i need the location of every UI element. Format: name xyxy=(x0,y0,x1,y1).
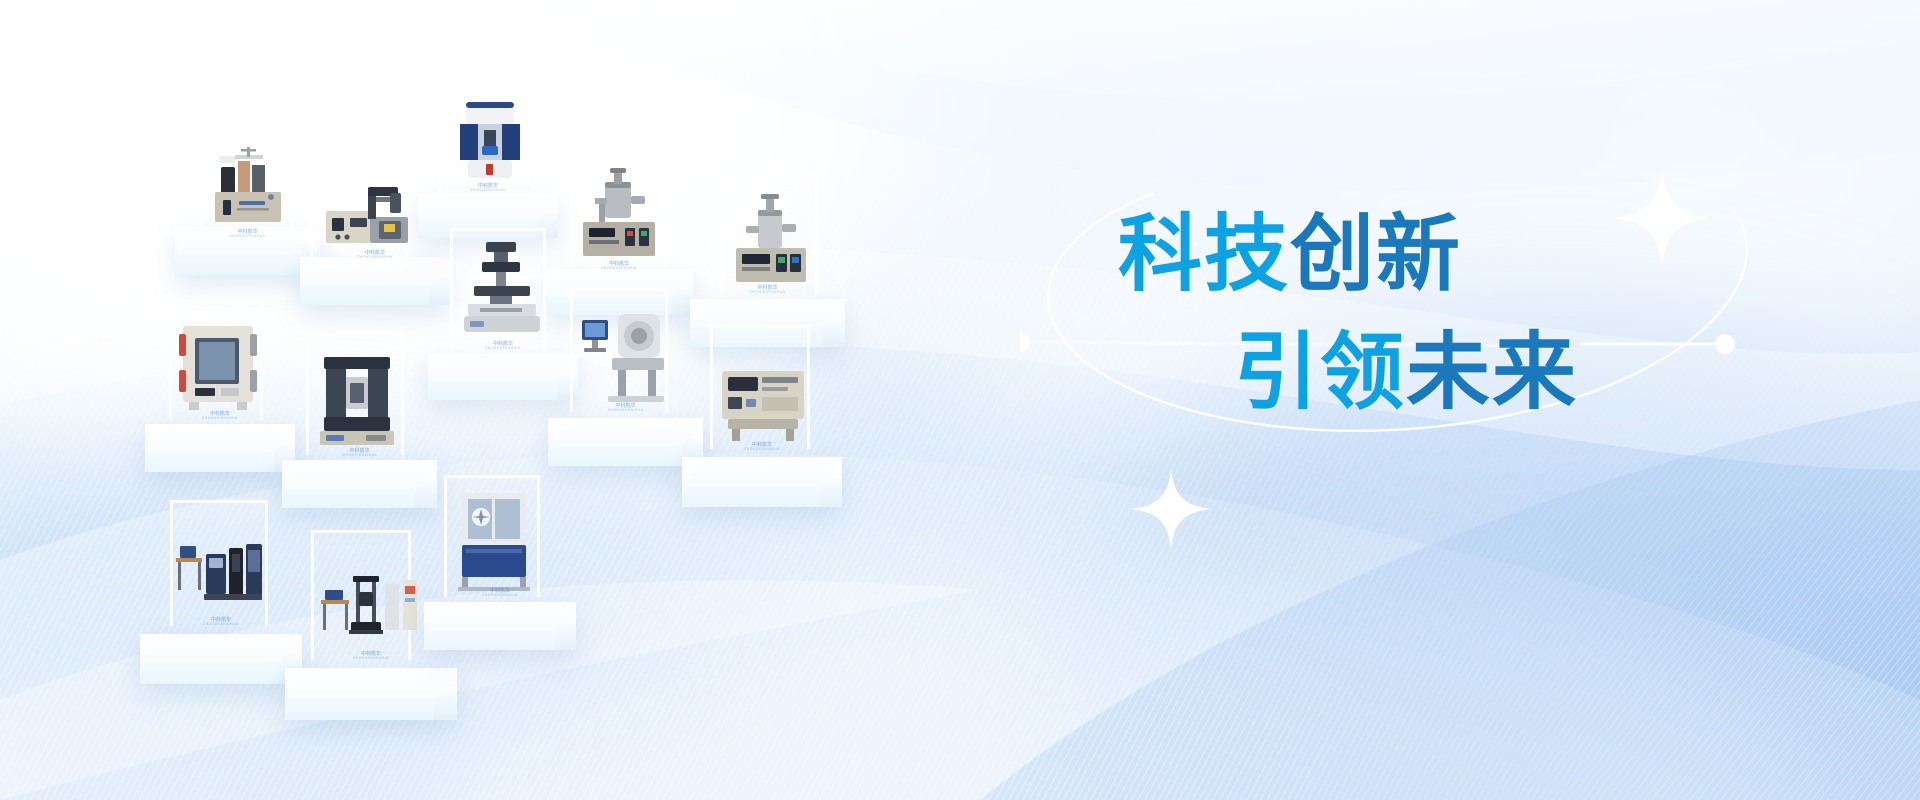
machine-illustration xyxy=(174,530,266,622)
sparkle-star-icon-bottom xyxy=(1130,468,1212,555)
product-card-surface-coating-tester[interactable]: 中科凯华 ZHONGKEKAIHUA xyxy=(175,110,320,275)
headline-line-1: 科技创新 xyxy=(1118,212,1878,296)
machine-illustration xyxy=(578,306,666,406)
product-card-electrochemical-workstation[interactable]: 中科凯华 ZHONGKEKAIHUA xyxy=(682,325,842,507)
product-card-magnetron-sputtering-unit[interactable]: 中科凯华 ZHONGKEKAIHUA xyxy=(690,172,845,347)
hero-banner: 中科凯华 ZHONGKEKAIHUA xyxy=(0,0,1920,800)
headline-line1-light: 科技 xyxy=(1118,207,1290,301)
machine-illustration xyxy=(456,96,524,184)
product-watermark: 中科凯华 ZHONGKEKAIHUA xyxy=(485,342,521,351)
headline-block: 科技创新 引领未来 xyxy=(1118,212,1878,414)
machine-illustration xyxy=(211,145,287,227)
product-watermark: 中科凯华 ZHONGKEKAIHUA xyxy=(744,443,780,452)
product-watermark: 中科凯华 ZHONGKEKAIHUA xyxy=(203,618,239,627)
machine-illustration xyxy=(314,351,400,451)
product-watermark: 中科凯华 ZHONGKEKAIHUA xyxy=(482,589,518,598)
product-watermark: 中科凯华 ZHONGKEKAIHUA xyxy=(230,230,266,239)
product-watermark: 中科凯华 ZHONGKEKAIHUA xyxy=(608,404,644,413)
machine-illustration xyxy=(718,353,808,445)
product-card-vacuum-chamber-unit[interactable]: 中科凯华 ZHONGKEKAIHUA xyxy=(145,300,295,472)
product-watermark: 中科凯华 ZHONGKEKAIHUA xyxy=(202,412,238,421)
background-glow-bottom-center xyxy=(420,560,1820,800)
product-watermark: 中科凯华 ZHONGKEKAIHUA xyxy=(750,286,786,295)
product-card-nano-indentation-tester[interactable]: 中科凯华 ZHONGKEKAIHUA xyxy=(418,78,558,238)
machine-illustration xyxy=(462,240,542,344)
product-card-high-temperature-furnace[interactable]: 中科凯华 ZHONGKEKAIHUA xyxy=(424,475,576,650)
headline-line1-dark: 创新 xyxy=(1290,207,1462,301)
machine-illustration xyxy=(728,192,814,290)
connector-dot-left xyxy=(1020,332,1030,352)
machine-illustration xyxy=(324,173,412,253)
product-card-reciprocating-friction-tester[interactable]: 中科凯华 ZHONGKEKAIHUA xyxy=(282,333,437,508)
product-card-ball-on-disc-tribometer[interactable]: 中科凯华 ZHONGKEKAIHUA xyxy=(548,288,703,466)
product-watermark: 中科凯华 ZHONGKEKAIHUA xyxy=(601,262,637,271)
product-watermark: 中科凯华 ZHONGKEKAIHUA xyxy=(470,184,506,193)
headline-line2-light: 引领 xyxy=(1234,325,1406,419)
headline-line2-dark: 未来 xyxy=(1406,325,1578,419)
machine-illustration xyxy=(319,568,419,654)
product-card-material-testing-console[interactable]: 中科凯华 ZHONGKEKAIHUA xyxy=(140,500,302,684)
product-watermark: 中科凯华 ZHONGKEKAIHUA xyxy=(353,652,389,661)
product-watermark: 中科凯华 ZHONGKEKAIHUA xyxy=(357,251,393,260)
machine-illustration xyxy=(454,489,534,591)
machine-illustration xyxy=(577,168,661,264)
headline-line-2: 引领未来 xyxy=(1118,330,1878,414)
product-watermark: 中科凯华 ZHONGKEKAIHUA xyxy=(342,449,378,458)
machine-illustration xyxy=(177,318,259,414)
